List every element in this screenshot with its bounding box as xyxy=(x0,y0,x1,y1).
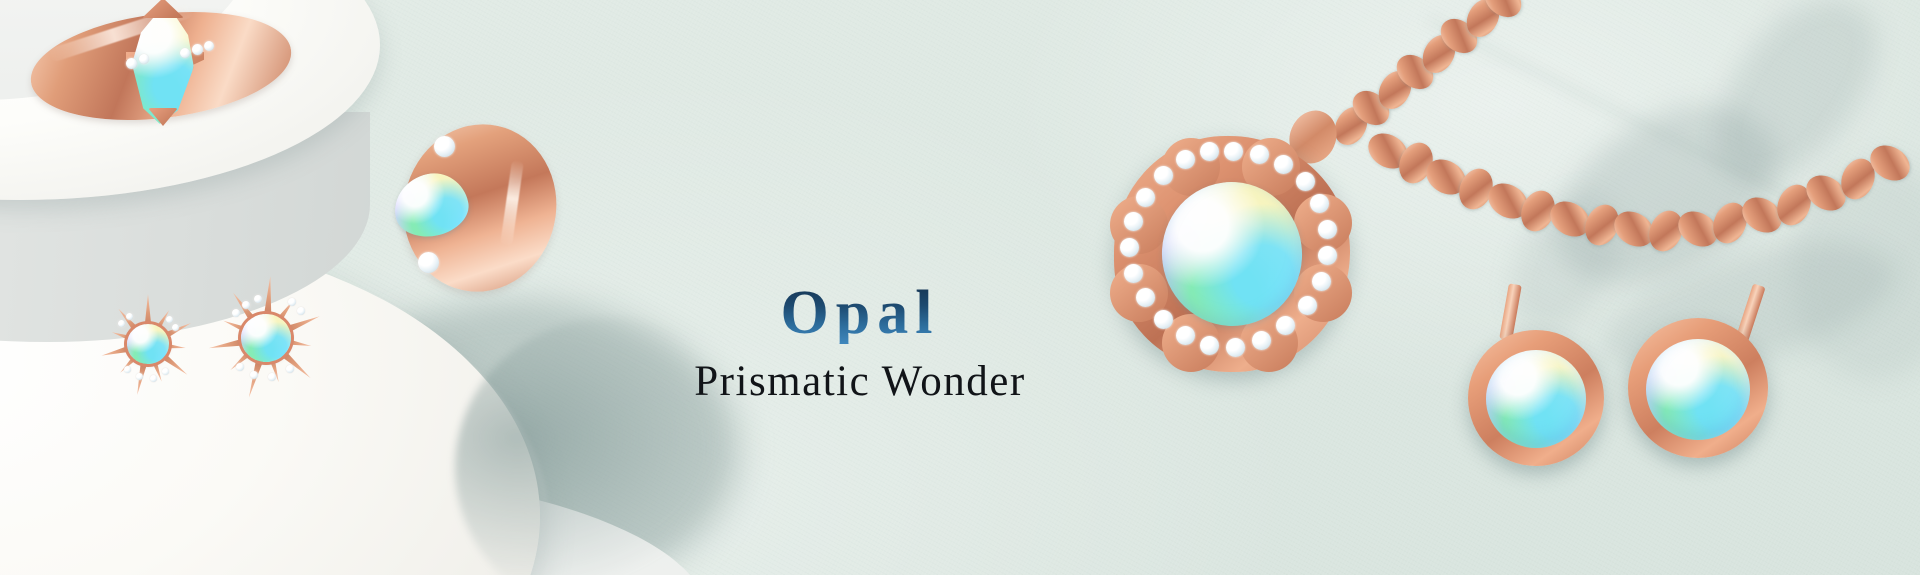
diamond-accent xyxy=(192,44,203,55)
round-opal-gemstone xyxy=(1646,339,1750,440)
diamond-accent xyxy=(1200,336,1219,355)
diamond-accent xyxy=(418,252,439,273)
round-opal-stud-right[interactable] xyxy=(1628,318,1768,458)
diamond-accent xyxy=(1274,155,1293,174)
diamond-accent xyxy=(1276,316,1295,335)
diamond-accent xyxy=(180,48,190,58)
opal-halo-pendant[interactable] xyxy=(1114,136,1350,372)
diamond-accent xyxy=(232,309,240,317)
diamond-accent xyxy=(136,373,143,380)
diamond-accent xyxy=(236,363,244,371)
diamond-accent xyxy=(1298,296,1317,315)
diamond-accent xyxy=(204,41,214,51)
diamond-accent xyxy=(126,313,133,320)
diamond-accent xyxy=(139,54,149,64)
diamond-accent xyxy=(1200,142,1219,161)
diamond-accent xyxy=(1310,194,1329,213)
diamond-accent xyxy=(434,136,455,157)
page-title: Opal xyxy=(620,282,1100,344)
opal-promo-banner: Opal Prismatic Wonder xyxy=(0,0,1920,575)
round-opal-gemstone xyxy=(127,324,169,364)
diamond-accent xyxy=(288,298,296,306)
diamond-accent xyxy=(254,295,262,303)
sunburst-opal-earring-right[interactable] xyxy=(200,265,332,411)
page-subtitle: Prismatic Wonder xyxy=(620,358,1100,405)
diamond-accent xyxy=(1154,310,1173,329)
sunburst-opal-earring-left[interactable] xyxy=(92,280,204,408)
diamond-accent xyxy=(162,368,169,375)
diamond-accent xyxy=(1312,272,1331,291)
diamond-accent xyxy=(1124,212,1143,231)
diamond-accent xyxy=(297,307,305,315)
diamond-accent xyxy=(166,316,173,323)
diamond-accent xyxy=(1226,338,1245,357)
diamond-accent xyxy=(1252,331,1271,350)
diamond-accent xyxy=(1318,246,1337,265)
round-opal-stud-left[interactable] xyxy=(1468,330,1604,466)
diamond-accent xyxy=(150,375,157,382)
diamond-accent xyxy=(1154,166,1173,185)
diamond-accent xyxy=(118,320,125,327)
diamond-accent xyxy=(1176,150,1195,169)
diamond-accent xyxy=(286,365,294,373)
diamond-accent xyxy=(1124,264,1143,283)
diamond-accent xyxy=(1136,288,1155,307)
banner-text-block: Opal Prismatic Wonder xyxy=(620,282,1100,405)
diamond-accent xyxy=(1296,172,1315,191)
round-opal-gemstone xyxy=(241,314,291,362)
diamond-accent xyxy=(1224,142,1243,161)
diamond-accent xyxy=(1136,188,1155,207)
pear-opal-ring[interactable] xyxy=(378,112,578,302)
diamond-accent xyxy=(1250,145,1269,164)
diamond-accent xyxy=(126,58,137,69)
diamond-accent xyxy=(242,301,250,309)
diamond-accent xyxy=(250,371,258,379)
diamond-accent xyxy=(124,366,131,373)
diamond-accent xyxy=(1318,220,1337,239)
round-opal-gemstone xyxy=(1486,350,1587,448)
diamond-accent xyxy=(268,373,276,381)
marquise-opal-ring[interactable] xyxy=(30,0,320,146)
diamond-accent xyxy=(1120,238,1139,257)
diamond-accent xyxy=(172,324,179,331)
diamond-accent xyxy=(1176,326,1195,345)
